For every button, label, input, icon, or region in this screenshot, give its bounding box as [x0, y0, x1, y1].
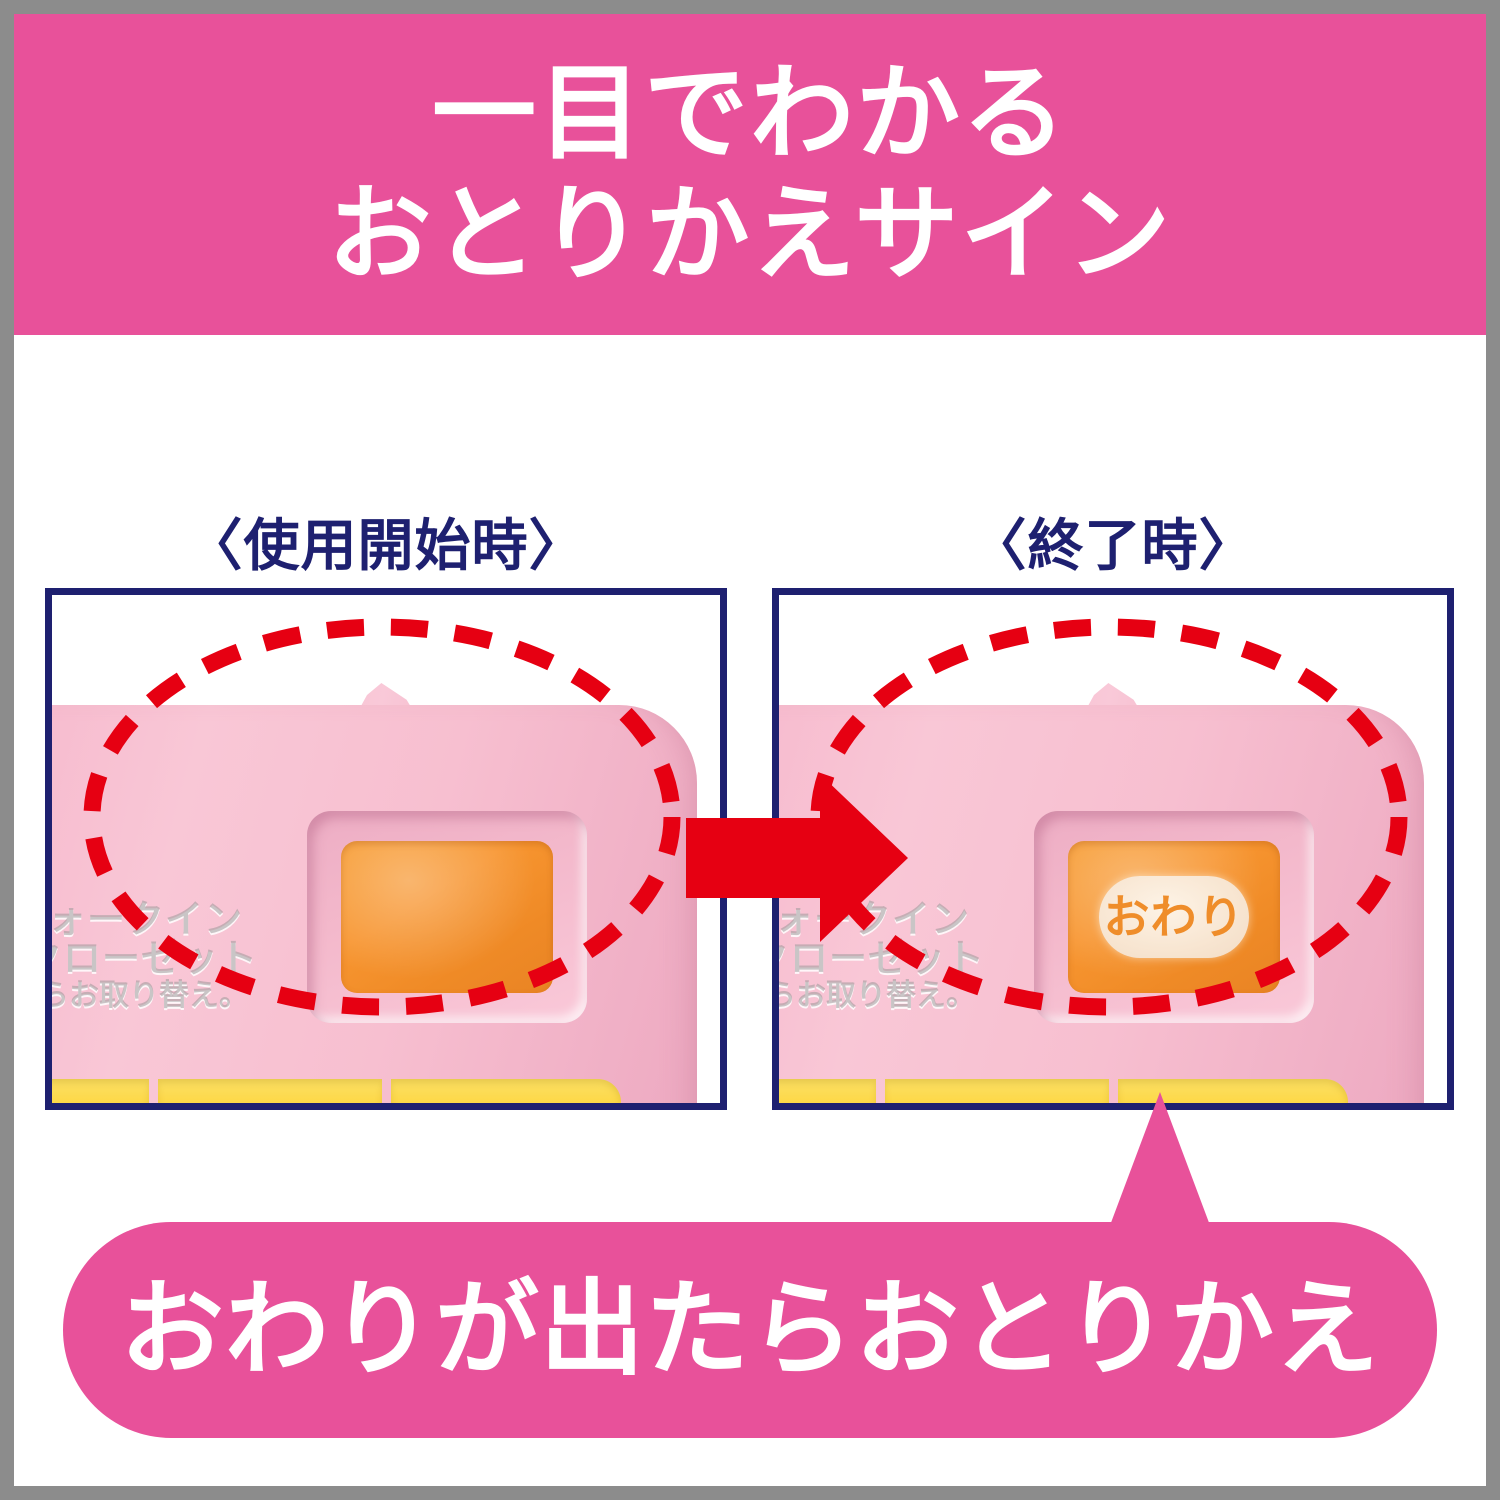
panel-before: ウォークイン ®クローゼット たらお取り替え。 — [45, 588, 727, 1110]
caption-after: 〈終了時〉 — [772, 501, 1454, 582]
emboss-line-3: たらお取り替え。 — [772, 981, 1024, 1012]
product-vent-slats — [45, 1079, 631, 1110]
vent-slat — [772, 1079, 876, 1110]
vent-slat — [885, 1079, 1109, 1110]
infographic-page: 一目でわかる おとりかえサイン 〈使用開始時〉 〈終了時〉 ウォークイン ®クロ… — [0, 0, 1500, 1500]
vent-slat — [391, 1079, 621, 1110]
vent-row — [45, 1079, 631, 1110]
owari-label: おわり — [1104, 894, 1245, 940]
owari-sign: おわり — [1099, 876, 1249, 958]
vent-row — [772, 1079, 1358, 1110]
indicator-window-before — [341, 841, 553, 993]
header-banner: 一目でわかる おとりかえサイン — [14, 14, 1486, 335]
emboss-line-1: ウォークイン — [45, 901, 297, 940]
bottom-banner: おわりが出たらおとりかえ — [63, 1222, 1437, 1438]
product-image-before: ウォークイン ®クローゼット たらお取り替え。 — [45, 683, 697, 1110]
indicator-bezel-before — [307, 811, 587, 1023]
header-title-line2: おとりかえサイン — [328, 175, 1173, 296]
emboss-line-2-text: クローゼット — [772, 938, 985, 980]
header-title-line1: 一目でわかる — [432, 54, 1068, 175]
indicator-bezel-after: おわり — [1034, 811, 1314, 1023]
emboss-line-2-text: クローゼット — [45, 938, 258, 980]
content-canvas: 一目でわかる おとりかえサイン 〈使用開始時〉 〈終了時〉 ウォークイン ®クロ… — [14, 14, 1486, 1486]
indicator-window-after: おわり — [1068, 841, 1280, 993]
emboss-line-2: ®クローゼット — [772, 940, 1024, 979]
vent-slat — [45, 1079, 149, 1110]
vent-slat — [1118, 1079, 1348, 1110]
transition-arrow-icon — [686, 774, 908, 942]
product-vent-slats — [772, 1079, 1358, 1110]
vent-slat — [158, 1079, 382, 1110]
emboss-line-3: たらお取り替え。 — [45, 981, 297, 1012]
bottom-banner-text: おわりが出たらおとりかえ — [120, 1278, 1380, 1382]
caption-before: 〈使用開始時〉 — [45, 501, 727, 582]
emboss-line-2: ®クローゼット — [45, 940, 297, 979]
product-emboss-text: ウォークイン ®クローゼット たらお取り替え。 — [45, 901, 297, 1011]
